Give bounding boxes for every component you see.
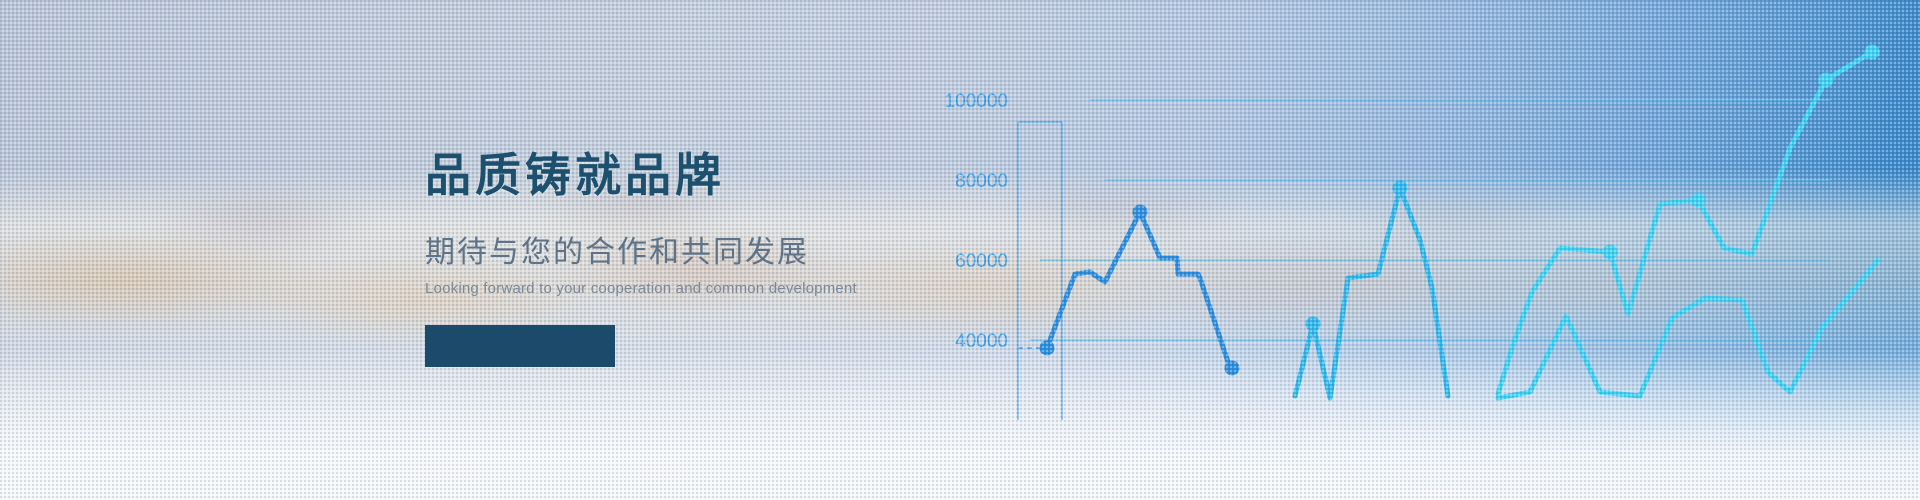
halftone-dot-overlay-light xyxy=(0,0,1920,500)
cta-button[interactable] xyxy=(425,325,615,367)
promo-banner: 400006000080000100000 品质铸就品牌 期待与您的合作和共同发… xyxy=(0,0,1920,500)
copy-block: 品质铸就品牌 期待与您的合作和共同发展 Looking forward to y… xyxy=(425,150,857,367)
subtitle-en: Looking forward to your cooperation and … xyxy=(425,280,857,297)
subtitle-cn: 期待与您的合作和共同发展 xyxy=(425,227,857,271)
page-title: 品质铸就品牌 xyxy=(425,150,857,201)
